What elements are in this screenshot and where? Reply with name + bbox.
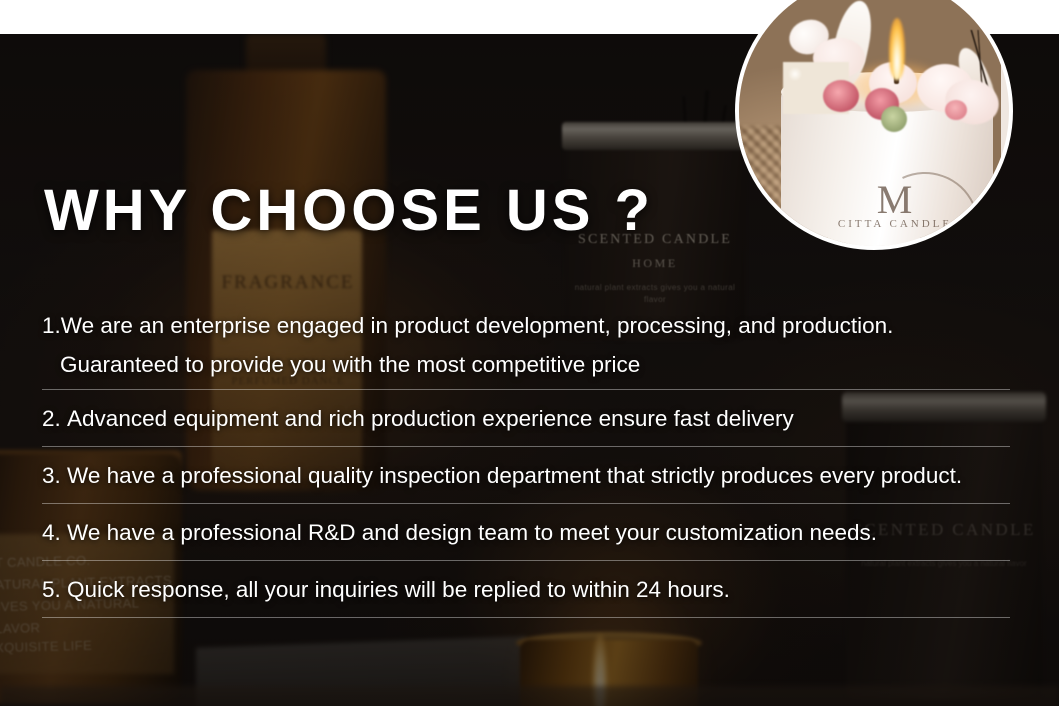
benefit-3-number: 3. [42, 463, 61, 488]
list-item: 1.We are an enterprise engaged in produc… [42, 306, 1014, 389]
benefit-4-text: We have a professional R&D and design te… [67, 520, 877, 545]
page-title: WHY CHOOSE US ? [44, 177, 654, 244]
benefit-1-line-2: Guaranteed to provide you with the most … [42, 345, 1014, 384]
benefit-2-text: Advanced equipment and rich production e… [67, 406, 794, 431]
list-item: 2. Advanced equipment and rich productio… [42, 390, 1014, 446]
list-item: 3. We have a professional quality inspec… [42, 447, 1014, 503]
why-choose-us-banner: FRAGRANCE THE LIGHT TURNS TO A PERFUMED … [0, 0, 1059, 706]
benefit-1-text: We are an enterprise engaged in product … [61, 313, 894, 338]
list-item: 4. We have a professional R&D and design… [42, 504, 1014, 560]
benefit-5-number: 5. [42, 577, 61, 602]
banner-content: WHY CHOOSE US ? 1.We are an enterprise e… [0, 0, 1059, 706]
benefits-list: 1.We are an enterprise engaged in produc… [42, 306, 1014, 618]
benefit-4-number: 4. [42, 520, 61, 545]
benefit-1-number: 1. [42, 313, 61, 338]
list-separator [42, 617, 1010, 618]
benefit-1-line-1: 1.We are an enterprise engaged in produc… [42, 306, 1014, 345]
benefit-5-text: Quick response, all your inquiries will … [67, 577, 730, 602]
benefit-2-number: 2. [42, 406, 61, 431]
benefit-3-text: We have a professional quality inspectio… [67, 463, 962, 488]
list-item: 5. Quick response, all your inquiries wi… [42, 561, 1014, 617]
